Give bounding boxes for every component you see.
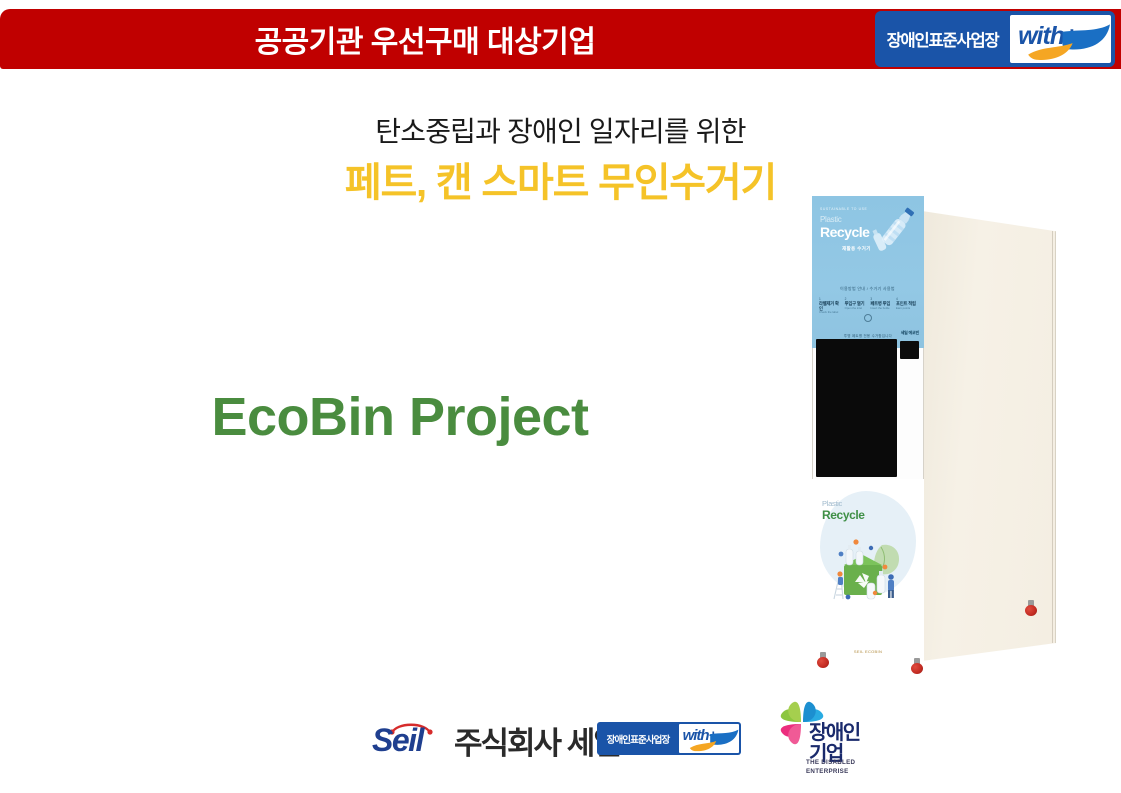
- seil-wordmark-group: Seil: [372, 719, 456, 761]
- info-circle-icon: [864, 314, 872, 322]
- withplus-logo: with+: [679, 724, 739, 753]
- project-title-text: EcoBin Project: [120, 386, 680, 448]
- machine-step-item: 3 페트병 투입 Insert the bottle: [870, 297, 893, 315]
- caster-wheel-icon: [817, 657, 829, 668]
- machine-card-reader-slot[interactable]: [900, 341, 919, 359]
- machine-step-item: 2 투입구 열기 Open the inlet: [845, 297, 868, 315]
- machine-plastic-label-top: Plastic: [820, 215, 841, 224]
- machine-plastic-label-bottom: Plastic: [822, 499, 842, 508]
- seil-korean-name: 주식회사 세일: [454, 718, 620, 763]
- machine-recycle-label-bottom: Recycle: [822, 508, 865, 522]
- cert-badge-label: 장애인표준사업장: [875, 11, 1010, 67]
- subtitle-text: 탄소중립과 장애인 일자리를 위한: [0, 110, 1121, 150]
- recycling-illustration-icon: [824, 531, 912, 607]
- machine-top-graphic-panel: SUSTAINABLE TO USE Plastic Recycle 재활용 수…: [812, 196, 924, 348]
- machine-bottom-graphic-panel: Plastic Recycle: [812, 479, 924, 668]
- disabled-enterprise-english: THE DISABLED ENTERPRISE: [806, 759, 870, 777]
- cert-badge-footer: 장애인표준사업장 with+: [597, 722, 741, 755]
- machine-recycle-label-top: Recycle: [820, 224, 869, 240]
- machine-footer-text: 투명 페트병 전용 수거함입니다: [844, 334, 892, 338]
- machine-steps-list: 1 라벨제거 확인 Check the label 2 투입구 열기 Open …: [819, 297, 919, 315]
- step-english: Earn points: [896, 307, 919, 310]
- machine-step-item: 1 라벨제거 확인 Check the label: [819, 297, 842, 315]
- cert-badge-top: 장애인표준사업장 with+: [875, 11, 1115, 67]
- withplus-swoosh-icon: [1010, 15, 1111, 63]
- machine-howto-header: 이용방법 안내 / 수거기 사용법: [840, 286, 895, 292]
- disabled-enterprise-logo: 장애인 기업 THE DISABLED ENTERPRISE: [765, 690, 875, 790]
- machine-brand-mark: 세일 에코빈: [901, 330, 919, 336]
- machine-korean-subtitle: 재활용 수거기: [842, 246, 871, 252]
- machine-front-panel: SUSTAINABLE TO USE Plastic Recycle 재활용 수…: [812, 196, 924, 668]
- machine-side-panel: [922, 211, 1056, 661]
- plastic-bottle-icon: [872, 202, 920, 258]
- machine-display-screen[interactable]: [816, 339, 897, 477]
- seil-company-logo: Seil 주식회사 세일: [372, 717, 620, 763]
- ecobin-machine-image: SUSTAINABLE TO USE Plastic Recycle 재활용 수…: [812, 196, 1055, 681]
- machine-caster-wheel: [910, 658, 924, 674]
- step-english: Open the inlet: [845, 307, 868, 310]
- banner-title: 공공기관 우선구매 대상기업: [0, 9, 860, 69]
- caster-wheel-icon: [1025, 605, 1037, 616]
- caster-wheel-icon: [911, 663, 923, 674]
- slide-root: 공공기관 우선구매 대상기업 장애인표준사업장 with+ 탄소중립과 장애인 …: [0, 0, 1121, 793]
- cert-badge-label: 장애인표준사업장: [597, 722, 679, 755]
- machine-panel-footer: 투명 페트병 전용 수거함입니다: [812, 314, 924, 342]
- machine-tiny-caps: SUSTAINABLE TO USE: [820, 207, 867, 211]
- withplus-swoosh-icon: [679, 724, 739, 753]
- machine-caster-wheel: [1024, 600, 1038, 616]
- step-english: Insert the bottle: [870, 307, 893, 310]
- machine-caster-wheel: [816, 652, 830, 668]
- machine-step-item: 4 포인트 적립 Earn points: [896, 297, 919, 315]
- withplus-logo: with+: [1010, 15, 1111, 63]
- seil-wordmark-text: Seil: [372, 722, 423, 759]
